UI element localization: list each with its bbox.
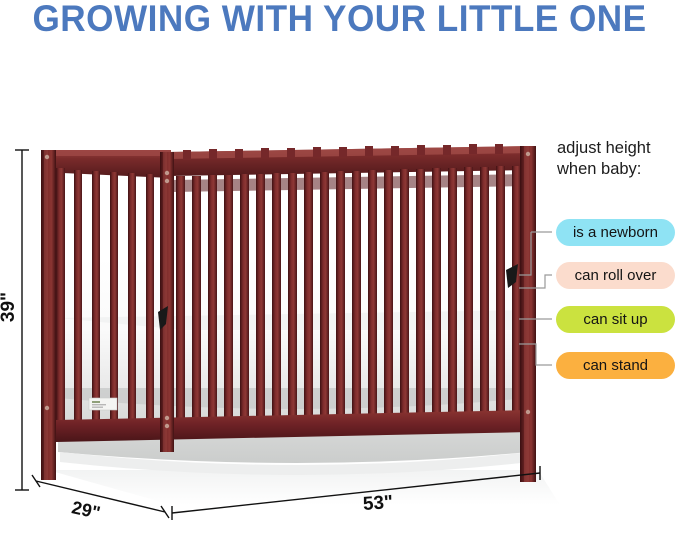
post-left-front (41, 150, 56, 480)
annotation-heading-line1: adjust height (557, 138, 679, 159)
milestone-pill-stand[interactable]: can stand (556, 352, 675, 379)
floor-plane (48, 470, 560, 505)
product-infographic: GROWING WITH YOUR LITTLE ONE (0, 0, 679, 535)
annotation-heading-line2: when baby: (557, 159, 679, 180)
milestone-pill-newborn[interactable]: is a newborn (556, 219, 675, 246)
milestone-pill-roll-over[interactable]: can roll over (556, 262, 675, 289)
dimension-label-height: 39" (0, 292, 20, 322)
milestone-pill-roll-over-label: can roll over (575, 267, 657, 284)
milestone-pill-sit-up-label: can sit up (583, 311, 647, 328)
annotation-heading: adjust height when baby: (557, 138, 679, 179)
dimension-label-width: 53" (362, 492, 394, 516)
milestone-pill-stand-label: can stand (583, 357, 648, 374)
crib-front-rail (168, 146, 532, 192)
milestone-pill-sit-up[interactable]: can sit up (556, 306, 675, 333)
milestone-pill-newborn-label: is a newborn (573, 224, 658, 241)
product-label-sticker (89, 398, 117, 410)
